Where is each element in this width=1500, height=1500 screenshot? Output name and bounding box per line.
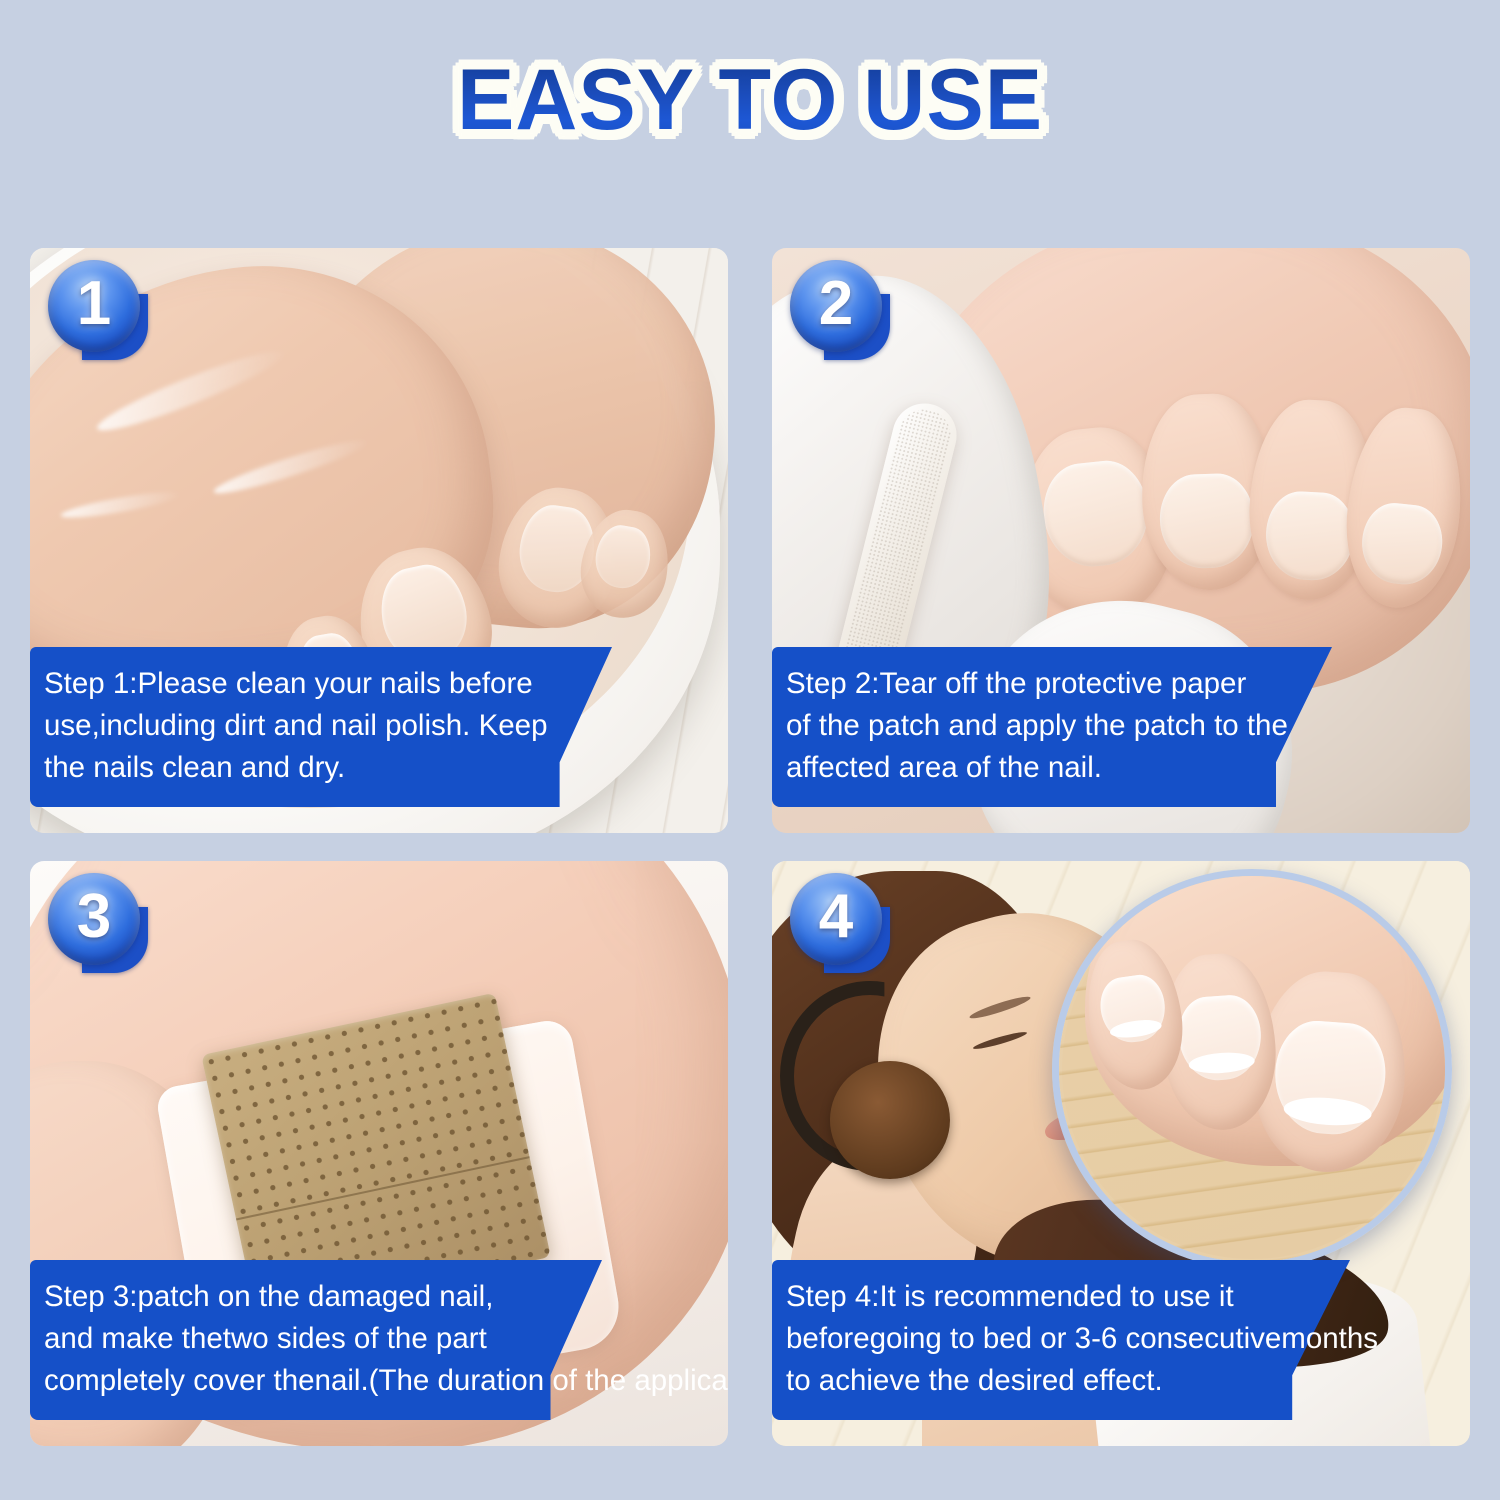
badge-disc: 1 bbox=[48, 260, 140, 352]
step-panel-1[interactable]: 1 Step 1:Please clean your nails before … bbox=[30, 248, 728, 833]
caption-line: use,including dirt and nail polish. Keep bbox=[44, 705, 547, 747]
caption-line: of the patch and apply the patch to the bbox=[786, 705, 1288, 747]
step-number: 1 bbox=[77, 273, 111, 335]
result-inset-circle bbox=[1052, 869, 1452, 1269]
caption-line: and make thetwo sides of the part bbox=[44, 1318, 728, 1360]
badge-disc: 3 bbox=[48, 873, 140, 965]
step-number: 3 bbox=[77, 886, 111, 948]
infographic-page: EASY TO USE bbox=[0, 0, 1500, 1500]
caption-line-overflow: completely cover thenail.(The duration o… bbox=[44, 1360, 728, 1402]
caption-line: the nails clean and dry. bbox=[44, 747, 547, 789]
caption-line: Step 4:It is recommended to use it bbox=[786, 1276, 1378, 1318]
caption-line: Step 3:patch on the damaged nail, bbox=[44, 1276, 728, 1318]
step-badge-1: 1 bbox=[48, 260, 152, 364]
step-badge-4: 4 bbox=[790, 873, 894, 977]
step-3-caption: Step 3:patch on the damaged nail, and ma… bbox=[30, 1260, 728, 1420]
step-panel-3[interactable]: 3 Step 3:patch on the damaged nail, and … bbox=[30, 861, 728, 1446]
step-number: 2 bbox=[819, 273, 853, 335]
badge-disc: 2 bbox=[790, 260, 882, 352]
page-title: EASY TO USE bbox=[457, 51, 1043, 150]
caption-line: affected area of the nail. bbox=[786, 747, 1288, 789]
step-badge-2: 2 bbox=[790, 260, 894, 364]
caption-line: Step 1:Please clean your nails before bbox=[44, 663, 547, 705]
caption-line: Step 2:Tear off the protective paper bbox=[786, 663, 1288, 705]
step-badge-3: 3 bbox=[48, 873, 152, 977]
step-4-caption: Step 4:It is recommended to use it befor… bbox=[772, 1260, 1378, 1420]
badge-disc: 4 bbox=[790, 873, 882, 965]
step-panel-4[interactable]: 4 Step 4:It is recommended to use it bef… bbox=[772, 861, 1470, 1446]
step-number: 4 bbox=[819, 886, 853, 948]
page-header: EASY TO USE bbox=[0, 0, 1500, 200]
headphone-earcup bbox=[830, 1061, 950, 1179]
step-1-caption: Step 1:Please clean your nails before us… bbox=[30, 647, 547, 807]
steps-grid: 1 Step 1:Please clean your nails before … bbox=[30, 248, 1470, 1452]
step-panel-2[interactable]: 2 Step 2:Tear off the protective paper o… bbox=[772, 248, 1470, 833]
step-2-caption: Step 2:Tear off the protective paper of … bbox=[772, 647, 1288, 807]
caption-line-overflow: beforegoing to bed or 3-6 consecutivemon… bbox=[786, 1318, 1378, 1360]
caption-line: to achieve the desired effect. bbox=[786, 1360, 1378, 1402]
